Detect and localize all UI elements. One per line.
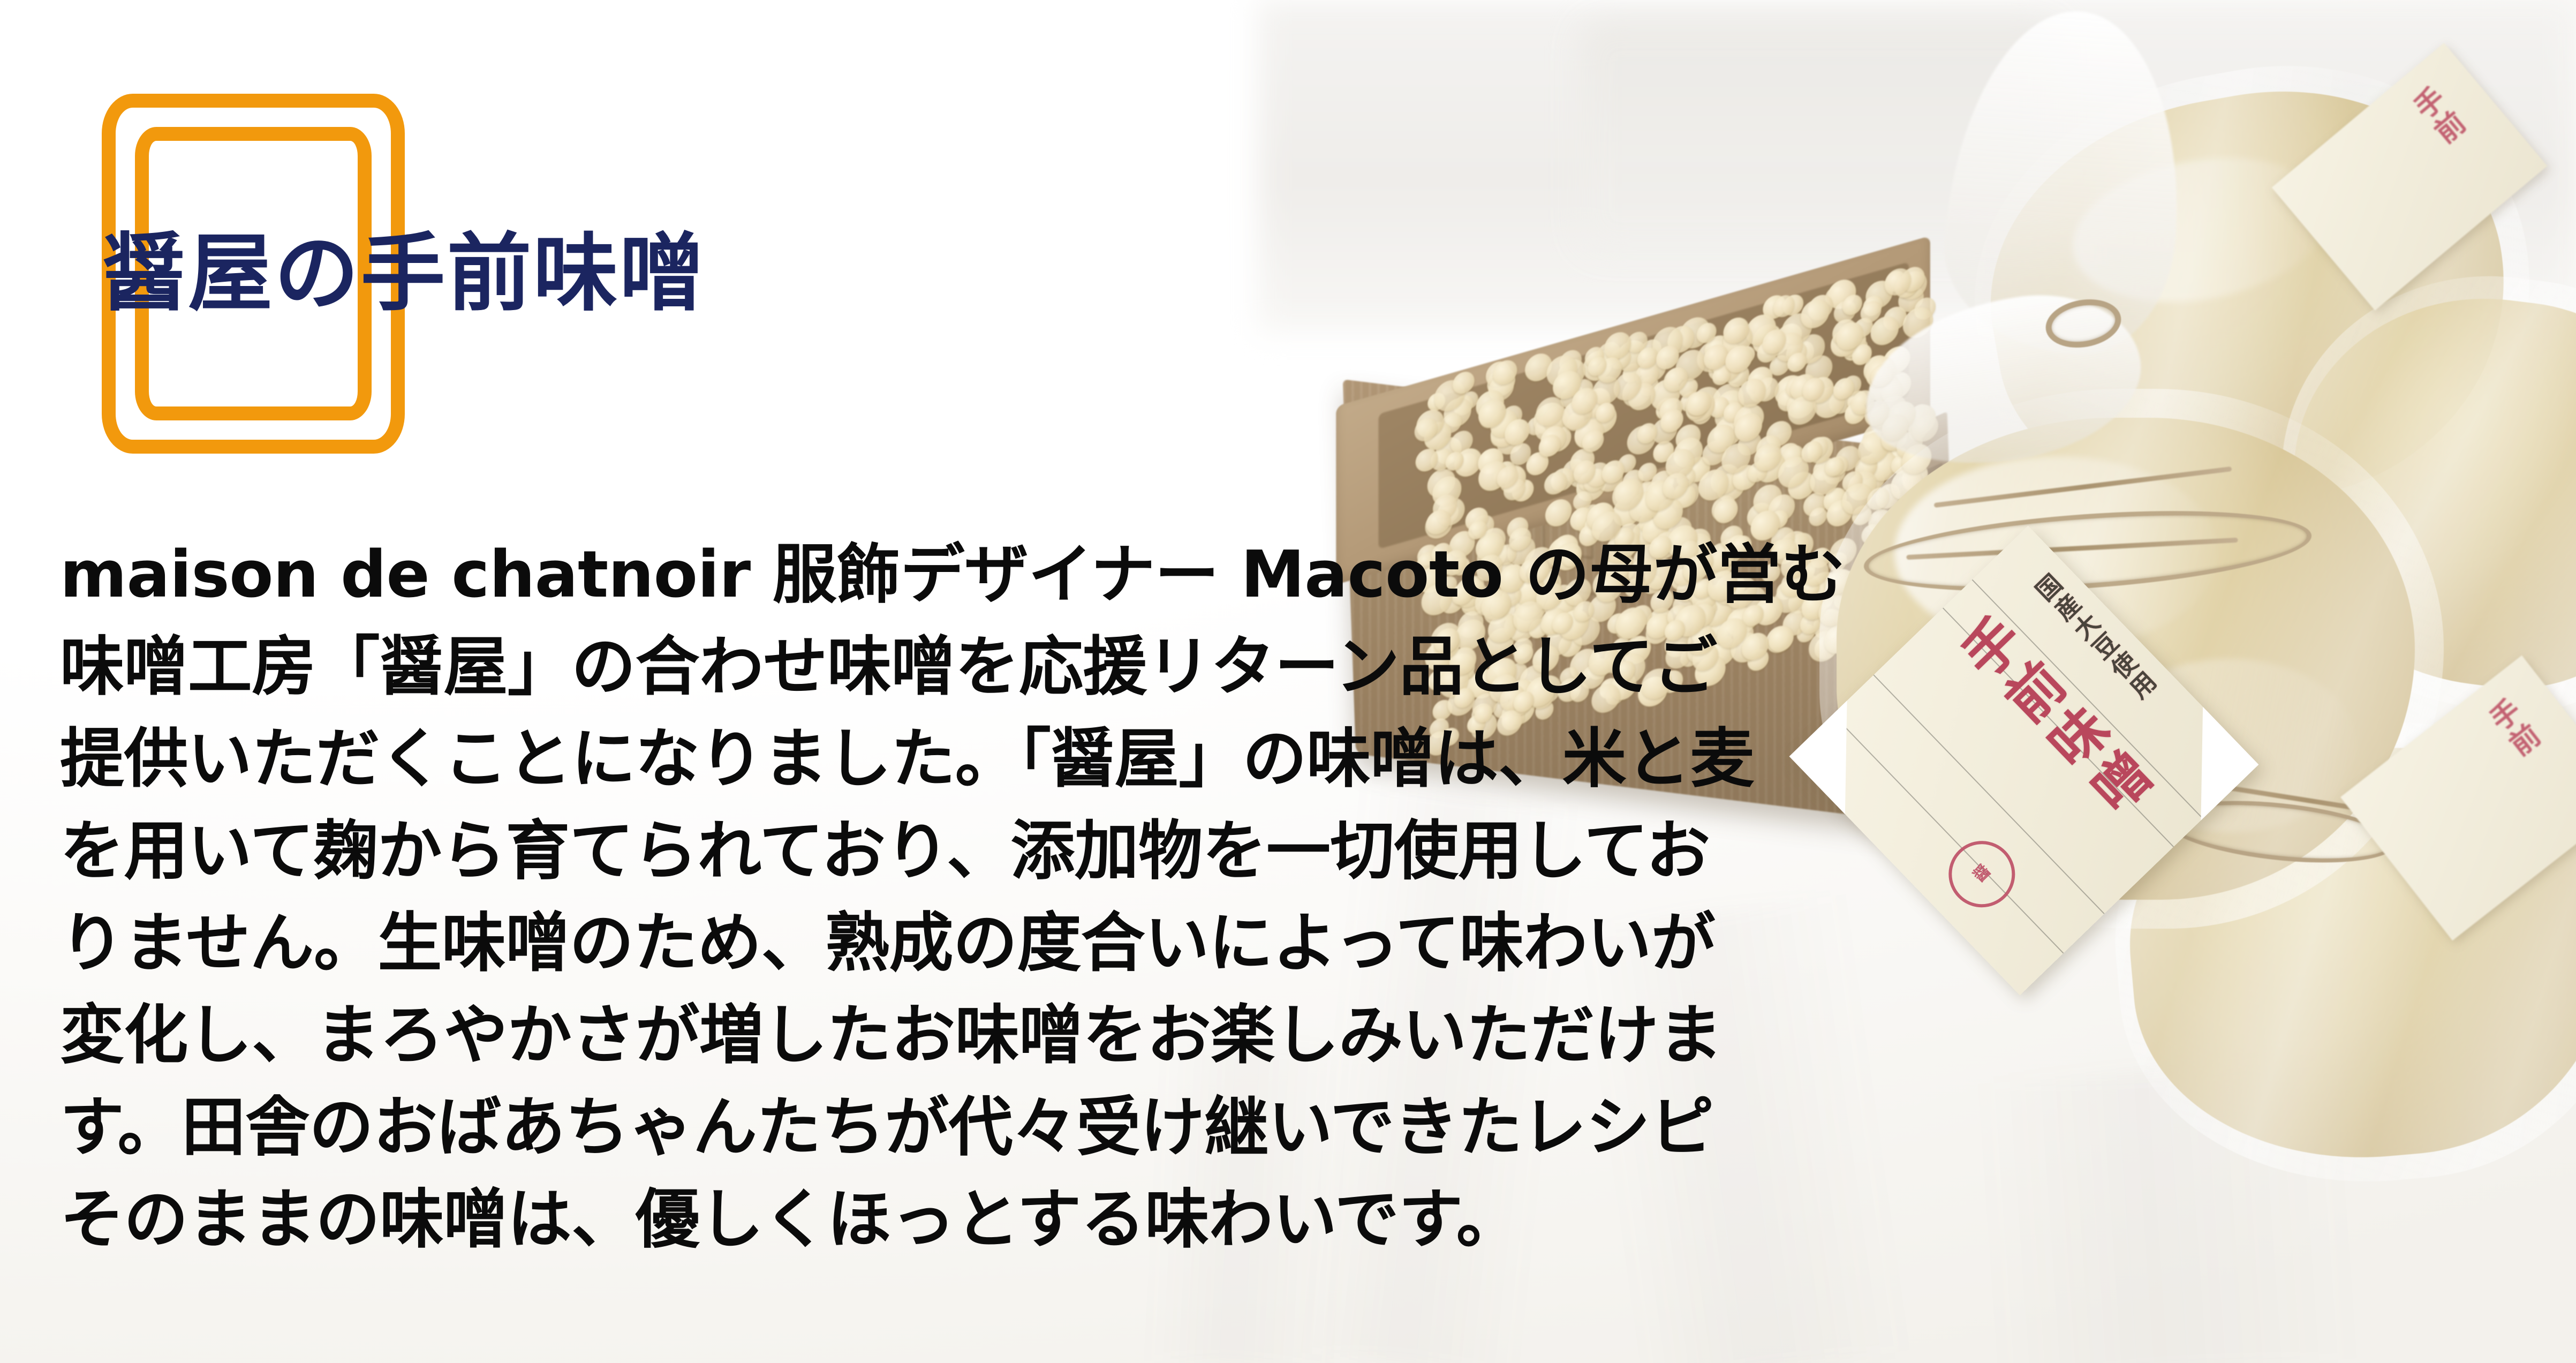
body-line: 提供いただくことになりました。「醤屋」の味噌は、米と麦 xyxy=(60,713,1399,805)
body-copy: maison de chatnoir 服飾デザイナー Macoto の母が営む … xyxy=(60,529,1399,1266)
tag-ink: 手前 xyxy=(2401,79,2475,155)
poster-canvas: 手前 手前 手前味噌 国産大豆使用 醤 醤屋の手前味噌 maison de ch… xyxy=(0,0,2576,1363)
title-badge: 醤屋の手前味噌 xyxy=(102,94,405,454)
page-title: 醤屋の手前味噌 xyxy=(102,231,405,316)
body-line: す。田舎のおばあちゃんたちが代々受け継いできたレシピ xyxy=(60,1082,1399,1174)
soybean xyxy=(1544,469,1568,497)
body-line: 味噌工房「醤屋」の合わせ味噌を応援リターン品としてご xyxy=(60,621,1399,713)
soybean xyxy=(1545,496,1572,529)
body-line: maison de chatnoir 服飾デザイナー Macoto の母が営む xyxy=(60,529,1399,621)
tag-ink: 手前 xyxy=(2477,691,2549,767)
body-line: そのままの味噌は、優しくほっとする味わいです。 xyxy=(60,1174,1399,1266)
body-line: りません。生味噌のため、熟成の度合いによって味わいが xyxy=(60,898,1399,990)
body-line: 変化し、まろやかさが増したお味噌をお楽しみいただけま xyxy=(60,990,1399,1082)
body-line: を用いて麹から育てられており、添加物を一切使用してお xyxy=(60,805,1399,898)
soybean xyxy=(1801,296,1830,331)
